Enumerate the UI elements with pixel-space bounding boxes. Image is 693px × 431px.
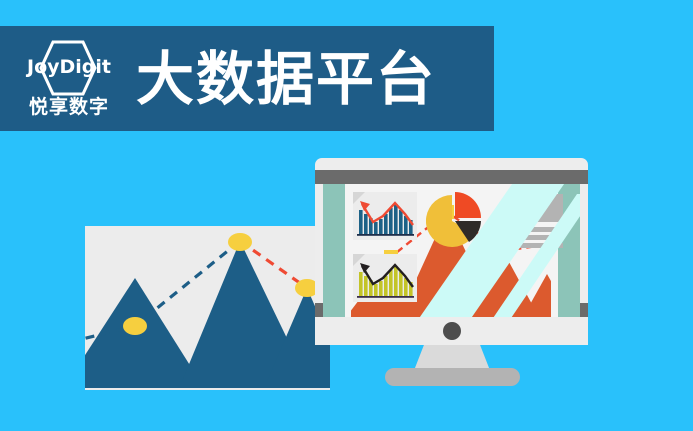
text-line (511, 243, 563, 248)
olive-bar-chart-card[interactable] (353, 254, 417, 302)
logo-wordmark: JoyDigit (14, 56, 124, 78)
arrow-head (360, 263, 370, 273)
mountain-baseline (85, 382, 330, 388)
left-mountain-chart (85, 226, 330, 390)
text-line (511, 227, 563, 232)
blue-bar-chart-card[interactable] (353, 192, 417, 240)
pie-chart[interactable] (426, 192, 482, 250)
blue-bar-chart (353, 192, 417, 240)
image-placeholder (511, 194, 563, 222)
monitor-top-bezel (315, 170, 588, 184)
arrow-head (360, 201, 370, 211)
header-banner: JoyDigit 悦享数字 大数据平台 (0, 26, 494, 131)
text-line (511, 235, 563, 240)
olive-bar-chart (353, 254, 417, 302)
screen-side-panel-left (323, 184, 345, 317)
monitor-stand-base (385, 368, 520, 386)
page-title: 大数据平台 (136, 46, 436, 112)
monitor (315, 158, 588, 345)
axis-line (357, 296, 414, 298)
bar-series (359, 266, 413, 296)
monitor-power-indicator (443, 322, 461, 340)
bar-series (359, 204, 413, 234)
screenshot-canvas: JoyDigit 悦享数字 大数据平台 (0, 0, 693, 431)
pie-slice-red (455, 192, 481, 218)
monitor-screen (323, 184, 580, 317)
brand-logo: JoyDigit 悦享数字 (14, 36, 124, 122)
left-chart-panel (85, 226, 330, 390)
axis-line (357, 234, 414, 236)
mountain-shape-left (85, 278, 203, 386)
data-marker (123, 317, 147, 335)
logo-subtitle: 悦享数字 (14, 92, 124, 119)
data-marker (228, 233, 252, 251)
data-marker-core (500, 248, 506, 254)
